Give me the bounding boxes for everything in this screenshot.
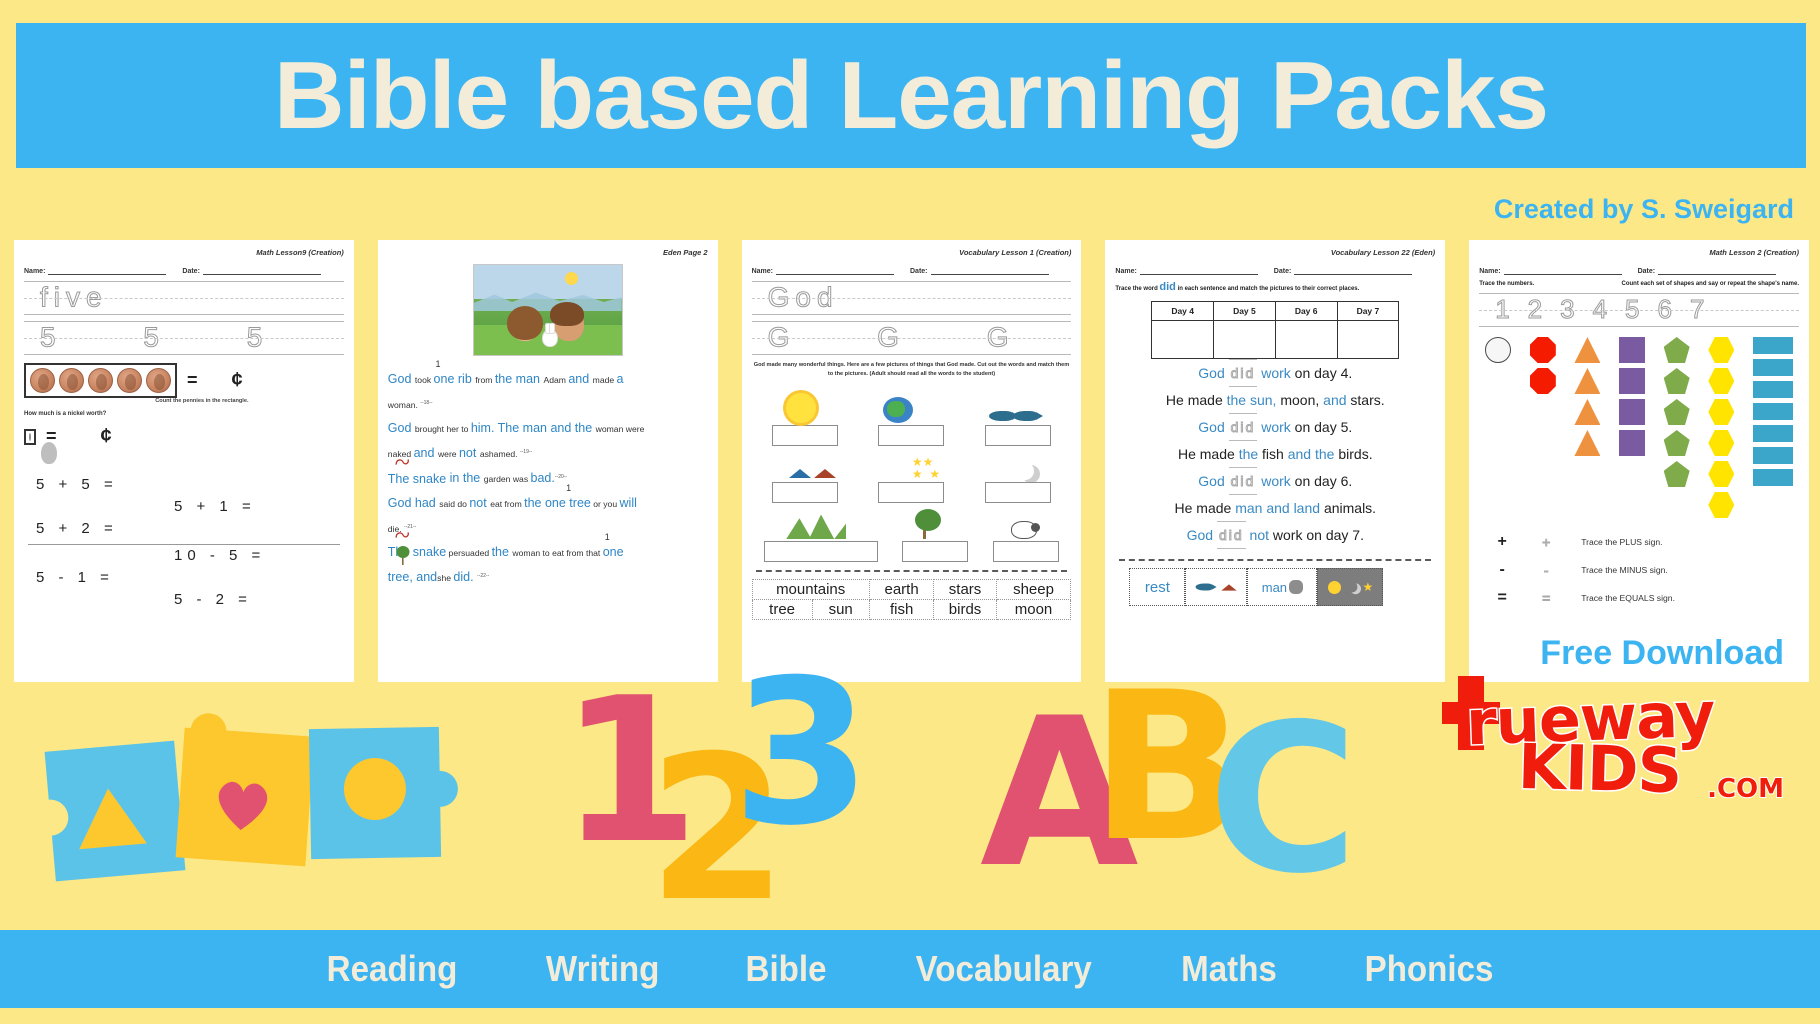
cent-sign: ¢ [232, 369, 243, 392]
sentence-word: the sun, [1227, 392, 1277, 408]
table-row: tree sun fish birds moon [752, 600, 1071, 620]
story-text-segment: took [415, 375, 434, 385]
hexagon-icon [1708, 399, 1734, 425]
snake-icon [394, 527, 412, 539]
triangle-icon [1574, 337, 1600, 363]
moon-icon [1016, 462, 1034, 480]
sentence-word: on day 6. [1291, 473, 1353, 489]
trace-sentence: He made the sun, moon, and stars. [1115, 387, 1435, 413]
trace-sentence: He made man and land animals. [1115, 495, 1435, 521]
trace-sentence: God did work on day 6. [1115, 467, 1435, 495]
nav-item-maths[interactable]: Maths [1182, 948, 1278, 990]
stars-icon: ★ [1363, 581, 1374, 593]
day-header: Day 5 [1214, 302, 1276, 321]
sheep-icon [1011, 521, 1037, 539]
story-text-segment: Adam [543, 375, 568, 385]
sentence-word: God [1198, 419, 1228, 435]
penny-icon [146, 368, 171, 393]
story-text-segment: in the [446, 472, 484, 486]
answer-box[interactable] [902, 541, 968, 562]
trace-sentence: God did work on day 5. [1115, 413, 1435, 441]
worksheet-card-math-lesson-2[interactable]: Math Lesson 2 (Creation) Name: Date: Tra… [1469, 240, 1809, 682]
cut-cell-label: man [1262, 580, 1287, 595]
sentence-word: on day 4. [1291, 365, 1353, 381]
pentagon-icon [1664, 337, 1690, 363]
nickel-icon [29, 433, 31, 441]
worksheet-title: Math Lesson 2 (Creation) [1709, 248, 1799, 257]
penny-icon [117, 368, 142, 393]
trace-numbers: 5 5 5 [40, 321, 302, 353]
triangle-icon [74, 786, 147, 850]
name-field: Name: [1479, 268, 1621, 275]
day-dropzone[interactable] [1337, 321, 1399, 359]
answer-box[interactable] [985, 482, 1051, 503]
sentence-word: fish [1262, 446, 1288, 462]
trueway-kids-logo[interactable]: rueway KIDS .COM [1440, 682, 1790, 812]
sentence-word: the [1239, 446, 1262, 462]
rectangle-icon [1753, 359, 1793, 376]
story-text-segment: woman to eat from that [512, 548, 602, 558]
sentence-word: God [1198, 365, 1228, 381]
story-text-segment: from [475, 375, 495, 385]
sign-label: Trace the EQUALS sign. [1581, 593, 1675, 603]
trace-sentence: God did work on day 4. [1115, 359, 1435, 387]
hexagon-icon [1708, 461, 1734, 487]
sentence-word: work [1257, 419, 1290, 435]
snake-icon [394, 454, 412, 466]
eden-story-text: God took one1 rib from the man Adam and … [388, 368, 708, 590]
sign-glyph: - [1493, 561, 1511, 579]
word-cell[interactable]: fish [869, 600, 934, 620]
sentence-word: He made [1166, 392, 1227, 408]
heart-icon [212, 776, 274, 834]
sentence-word: moon, [1276, 392, 1323, 408]
day-header: Day 7 [1337, 302, 1399, 321]
sentence-word: God [1187, 527, 1217, 543]
birds-icon [789, 469, 836, 480]
trace-line-letters: G G G [752, 321, 1072, 355]
trace-numbers: 1234567 [1495, 294, 1722, 325]
word-cell[interactable]: tree [752, 600, 812, 620]
number-one-icon: 1 [605, 526, 610, 549]
page-title: Bible based Learning Packs [0, 23, 1820, 168]
story-text-segment: woman were [596, 424, 645, 434]
story-text-segment: the man [495, 372, 544, 386]
worksheet-title: Eden Page 2 [663, 248, 708, 257]
square-icon [1619, 368, 1645, 394]
sun-icon [1328, 581, 1341, 594]
answer-box[interactable] [764, 541, 878, 562]
elephant-icon [1289, 580, 1303, 594]
story-text-segment: --22-- [477, 573, 489, 579]
square-icon [1619, 430, 1645, 456]
number-one-icon: 1 [436, 353, 441, 376]
table-row [1152, 321, 1399, 359]
story-text-segment: God had [388, 496, 439, 510]
days-table: Day 4 Day 5 Day 6 Day 7 [1151, 301, 1399, 359]
trace-line-word: five [24, 281, 344, 315]
sign-glyph: = [1493, 589, 1511, 607]
sentence-word: not [1246, 527, 1269, 543]
letter-c-graphic: C [1208, 698, 1358, 903]
logo-com-suffix: .COM [1707, 774, 1784, 804]
name-field: Name: [1115, 268, 1257, 275]
sign-trace-outline: = [1533, 590, 1559, 606]
trace-line-word: God [752, 281, 1072, 315]
story-text-segment: garden was [484, 475, 531, 485]
cent-sign: ¢ [101, 425, 112, 448]
shape-counting-columns [1485, 337, 1793, 518]
bird-icon [1222, 584, 1237, 590]
sun-icon [786, 393, 816, 423]
sentence-word: He made [1175, 500, 1236, 516]
pentagon-icon [1664, 368, 1690, 394]
trace-word-did: did [1229, 467, 1258, 495]
trace-word-did: did [1217, 521, 1246, 549]
story-text-segment: were [438, 449, 459, 459]
penny-icon [30, 368, 55, 393]
word-cell[interactable]: sheep [996, 580, 1071, 600]
nickel-exercise: = ¢ [24, 425, 344, 448]
square-icon [1619, 399, 1645, 425]
story-text-segment: him. The man and the [471, 421, 596, 435]
instructions-text: Trace the word did in each sentence and … [1115, 281, 1435, 293]
puzzle-piece-heart [176, 728, 315, 867]
mountains-icon [786, 513, 846, 539]
worksheet-card-vocabulary-lesson-22[interactable]: Vocabulary Lesson 22 (Eden) Name: Date: … [1105, 240, 1445, 682]
triangle-icon [1574, 368, 1600, 394]
sentence-word: He made [1178, 446, 1239, 462]
hexagon-icon [1708, 337, 1734, 363]
day-dropzone[interactable] [1214, 321, 1276, 359]
word-cell[interactable]: earth [869, 580, 934, 600]
fish-icon [981, 408, 1037, 423]
math-problem: 5 - 2 = [174, 591, 252, 608]
worksheet-card-vocabulary-lesson-1[interactable]: Vocabulary Lesson 1 (Creation) Name: Dat… [742, 240, 1082, 682]
trace-sentence: God did not work on day 7. [1115, 521, 1435, 549]
sentence-word: man and land [1235, 500, 1324, 516]
footer-nav: ReadingWritingBibleVocabularyMathsPhonic… [0, 930, 1820, 1008]
instruction-right: Count each set of shapes and say or repe… [1622, 281, 1799, 287]
sentence-word: God [1198, 473, 1228, 489]
name-date-row: Name: Date: [24, 268, 344, 275]
bottom-graphics: 1 2 3 A B C Free Download rueway KIDS .C… [0, 682, 1820, 922]
math-problems: 5 + 5 = 5 + 1 = 5 + 2 = 10 - 5 = 5 - 1 =… [24, 476, 344, 613]
trace-line-numbers: 5 5 5 [24, 321, 344, 355]
story-text-segment: The snake [388, 472, 446, 486]
day-header: Day 4 [1152, 302, 1214, 321]
story-text-segment: and [414, 446, 438, 460]
answer-box[interactable] [772, 425, 838, 446]
answer-box[interactable] [985, 425, 1051, 446]
hills-shape [474, 291, 622, 311]
date-field: Date: [1638, 268, 1777, 275]
story-text-segment: not [469, 496, 490, 510]
created-by-credit: Created by S. Sweigard [1494, 194, 1794, 225]
sentence-word: birds. [1338, 446, 1372, 462]
pennies-rectangle [24, 363, 177, 398]
tree-icon [915, 509, 941, 539]
instructions-text: God made many wonderful things. Here are… [752, 361, 1072, 379]
rabbit-icon [542, 329, 558, 347]
day-dropzone[interactable] [1275, 321, 1337, 359]
cut-cell-rest[interactable]: rest [1129, 568, 1185, 606]
shape-column-rectangle [1753, 337, 1793, 486]
tree-icon [396, 545, 410, 565]
date-field: Date: [182, 268, 321, 275]
name-field: Name: [752, 268, 894, 275]
story-text-segment: did. [453, 570, 477, 584]
math-problem: 5 - 1 = [36, 569, 114, 586]
shape-column-circle [1485, 337, 1511, 363]
divider [28, 544, 340, 545]
hexagon-icon [1708, 368, 1734, 394]
picture-match-grid: ★★★ ★ [752, 385, 1072, 562]
earth-icon [883, 397, 913, 423]
penny-icon [88, 368, 113, 393]
puzzle-pieces-graphic [28, 702, 488, 902]
story-text-segment: God [388, 421, 415, 435]
sign-trace-outline: + [1533, 534, 1559, 550]
number-one-icon: 1 [566, 477, 571, 500]
triangle-icon [1574, 399, 1600, 425]
nickel-box [24, 429, 36, 445]
puzzle-piece-circle [309, 727, 441, 859]
rectangle-icon [1753, 447, 1793, 464]
shape-column-triangle [1574, 337, 1600, 456]
math-problem: 10 - 5 = [174, 547, 265, 564]
instruction-left: Trace the numbers. [1479, 281, 1534, 287]
story-text-segment: --19-- [520, 449, 532, 455]
adam-figure [554, 307, 584, 341]
cut-line [1119, 559, 1431, 561]
story-text-segment: --18-- [420, 400, 432, 406]
answer-box[interactable] [878, 425, 944, 446]
story-text-segment: or you [591, 499, 620, 509]
worksheet-cards-row: Math Lesson9 (Creation) Name: Date: five… [14, 240, 1809, 682]
story-text-segment: the [492, 545, 513, 559]
nav-item-reading[interactable]: Reading [326, 948, 457, 990]
garden-of-eden-illustration [473, 264, 623, 356]
sentence-word: work [1257, 365, 1290, 381]
cut-cell-fish-birds[interactable] [1185, 568, 1247, 606]
sentence-word: animals. [1324, 500, 1376, 516]
table-header-row: Day 4 Day 5 Day 6 Day 7 [1152, 302, 1399, 321]
sentence-word: and [1323, 392, 1350, 408]
nav-item-vocabulary[interactable]: Vocabulary [916, 948, 1092, 990]
circle-icon [343, 757, 406, 820]
nickel-question: How much is a nickel worth? [24, 411, 344, 417]
numbers-123-graphic: 1 2 3 [560, 682, 890, 922]
puzzle-piece-triangle [45, 741, 186, 882]
name-date-row: Name: Date: [1115, 268, 1435, 275]
eve-figure [512, 311, 538, 341]
rectangle-icon [1753, 337, 1793, 354]
sign-label: Trace the PLUS sign. [1581, 537, 1662, 547]
trace-word: God [768, 281, 839, 313]
rectangle-icon [1753, 381, 1793, 398]
date-field: Date: [910, 268, 1049, 275]
instruction-word: did [1159, 281, 1176, 293]
math-problem: 5 + 5 = [36, 476, 118, 493]
story-text-segment: made [593, 375, 617, 385]
day-header: Day 6 [1275, 302, 1337, 321]
story-text-segment: bad. [531, 472, 555, 486]
pentagon-icon [1664, 399, 1690, 425]
sentence-word: work on day 7. [1269, 527, 1364, 543]
nav-item-bible[interactable]: Bible [745, 948, 826, 990]
sign-label: Trace the MINUS sign. [1581, 565, 1668, 575]
letters-abc-graphic: A B C [990, 682, 1330, 922]
math-problem: 5 + 1 = [174, 498, 256, 515]
hexagon-icon [1708, 492, 1734, 518]
free-download-label: Free Download [1540, 634, 1784, 673]
trace-word: five [40, 281, 108, 313]
sign-trace-outline: - [1533, 562, 1559, 578]
story-text-segment: said do [439, 499, 469, 509]
worksheet-title: Math Lesson9 (Creation) [256, 248, 344, 257]
cut-out-strip: rest man ★ [1129, 568, 1421, 606]
logo-line-2: KIDS [1517, 730, 1682, 807]
sentence-word: and the [1288, 446, 1339, 462]
cut-line [756, 570, 1068, 572]
circle-icon [1485, 337, 1511, 363]
nav-item-writing[interactable]: Writing [546, 948, 659, 990]
table-row: mountains earth stars sheep [752, 580, 1071, 600]
word-cell[interactable]: birds [934, 600, 996, 620]
story-text-segment: she [437, 573, 453, 583]
story-text-segment: God [388, 372, 415, 386]
word-cell[interactable]: moon [996, 600, 1071, 620]
sign-tracing-rows: ++Trace the PLUS sign.--Trace the MINUS … [1493, 528, 1785, 612]
equals-sign: = [187, 370, 198, 391]
shape-column-pentagon [1664, 337, 1690, 487]
rectangle-icon [1753, 425, 1793, 442]
stars-icon: ★★★ ★ [912, 456, 940, 480]
story-text-segment: will [620, 496, 637, 510]
square-icon [1619, 337, 1645, 363]
sign-trace-row: ==Trace the EQUALS sign. [1493, 584, 1785, 612]
sun-icon [565, 272, 578, 285]
shape-column-hexagon [1708, 337, 1734, 518]
sentence-word: on day 5. [1291, 419, 1353, 435]
sentence-word: work [1257, 473, 1290, 489]
worksheet-title: Vocabulary Lesson 22 (Eden) [1331, 248, 1435, 257]
word-cell[interactable]: stars [934, 580, 996, 600]
trace-word-did: did [1229, 359, 1258, 387]
word-bank-table: mountains earth stars sheep tree sun fis… [752, 579, 1072, 620]
worksheet-title: Vocabulary Lesson 1 (Creation) [959, 248, 1071, 257]
date-field: Date: [1274, 268, 1413, 275]
penny-caption: Count the pennies in the rectangle. [60, 398, 344, 404]
story-text-segment: ashamed. [480, 449, 520, 459]
answer-box[interactable] [878, 482, 944, 503]
answer-box[interactable] [772, 482, 838, 503]
day-sentences: God did work on day 4.He made the sun, m… [1115, 359, 1435, 549]
word-cell[interactable]: sun [812, 600, 869, 620]
answer-box[interactable] [993, 541, 1059, 562]
trace-sentence: He made the fish and the birds. [1115, 441, 1435, 467]
word-cell[interactable]: mountains [752, 580, 869, 600]
story-text-segment: the one tree [524, 496, 591, 510]
name-date-row: Name: Date: [752, 268, 1072, 275]
math-problem: 5 + 2 = [36, 520, 118, 537]
trace-line-numbers: 1234567 [1479, 293, 1799, 327]
pennies-exercise: = ¢ [24, 363, 344, 398]
cut-cell-man-animals[interactable]: man [1247, 568, 1317, 606]
penny-icon [59, 368, 84, 393]
sentence-word: stars. [1350, 392, 1384, 408]
worksheet-card-eden-page-2[interactable]: Eden Page 2 God took one1 rib from the m… [378, 240, 718, 682]
story-text-segment: eat from [490, 499, 524, 509]
instructions-row: Trace the numbers. Count each set of sha… [1479, 281, 1799, 287]
cut-cell-sun-moon-stars[interactable]: ★ [1317, 568, 1383, 606]
story-text-segment: not [459, 446, 480, 460]
trace-word-did: did [1229, 413, 1258, 441]
story-text-segment: rib [454, 372, 475, 386]
shape-column-octagon [1530, 337, 1556, 394]
story-text-segment: a [617, 372, 624, 386]
worksheet-card-math-lesson-9[interactable]: Math Lesson9 (Creation) Name: Date: five… [14, 240, 354, 682]
rectangle-icon [1753, 469, 1793, 486]
name-date-row: Name: Date: [1479, 268, 1799, 275]
moon-icon [1346, 582, 1357, 593]
number-3-graphic: 3 [732, 654, 871, 854]
story-text-segment: woman. [388, 400, 420, 410]
story-text-segment: and [568, 372, 592, 386]
pentagon-icon [1664, 461, 1690, 487]
fish-icon [1196, 584, 1213, 591]
day-dropzone[interactable] [1152, 321, 1214, 359]
sign-trace-row: ++Trace the PLUS sign. [1493, 528, 1785, 556]
story-text-segment: tree, and [388, 570, 437, 584]
story-text-segment: brought her to [415, 424, 471, 434]
story-text-segment: persuaded [446, 548, 491, 558]
shape-column-square [1619, 337, 1645, 456]
pentagon-icon [1664, 430, 1690, 456]
sign-glyph: + [1493, 533, 1511, 551]
rectangle-icon [1753, 403, 1793, 420]
name-field: Name: [24, 268, 166, 275]
sign-trace-row: --Trace the MINUS sign. [1493, 556, 1785, 584]
octagon-icon [1530, 368, 1556, 394]
hexagon-icon [1708, 430, 1734, 456]
nav-item-phonics[interactable]: Phonics [1365, 948, 1494, 990]
trace-letters: G G G [768, 321, 1049, 353]
header-banner: Bible based Learning Packs [16, 23, 1806, 168]
triangle-icon [1574, 430, 1600, 456]
octagon-icon [1530, 337, 1556, 363]
